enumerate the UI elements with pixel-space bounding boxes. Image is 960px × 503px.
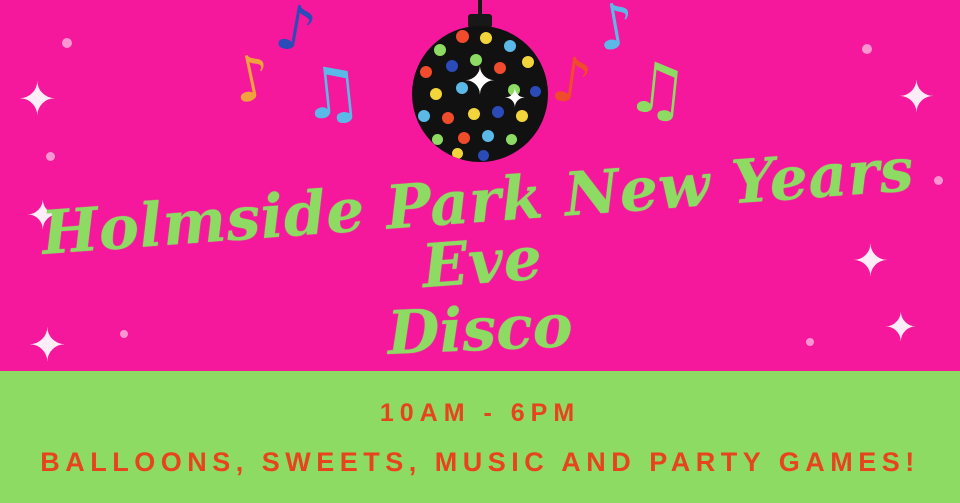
sparkle-icon: ✦ (898, 76, 935, 120)
sparkle-icon: ✦ (18, 76, 57, 122)
poster-title: Holmside Park New Years Eve Disco (0, 172, 960, 362)
music-note-icon: ♫ (623, 51, 693, 127)
poster-top-panel: ✦ ✦ ✦ ✦ ✦ ✦ ♪ ♪ ♫ ♪ ♪ ♫ (0, 0, 960, 371)
disco-ball-icon: ✦ ✦ (400, 0, 560, 160)
poster-canvas: ✦ ✦ ✦ ✦ ✦ ✦ ♪ ♪ ♫ ♪ ♪ ♫ (0, 0, 960, 503)
event-details: BALLOONS, SWEETS, MUSIC AND PARTY GAMES! (0, 447, 960, 478)
poster-bottom-panel: 10AM - 6PM BALLOONS, SWEETS, MUSIC AND P… (0, 371, 960, 503)
sparkle-icon: ✦ (504, 86, 526, 112)
bubble-icon (62, 38, 72, 48)
music-note-icon: ♫ (297, 55, 367, 131)
music-note-icon: ♪ (226, 45, 278, 114)
disco-ball-sphere: ✦ ✦ (412, 26, 548, 162)
bubble-icon (46, 152, 55, 161)
event-time: 10AM - 6PM (0, 399, 960, 428)
sparkle-icon: ✦ (464, 62, 496, 100)
bubble-icon (862, 44, 872, 54)
